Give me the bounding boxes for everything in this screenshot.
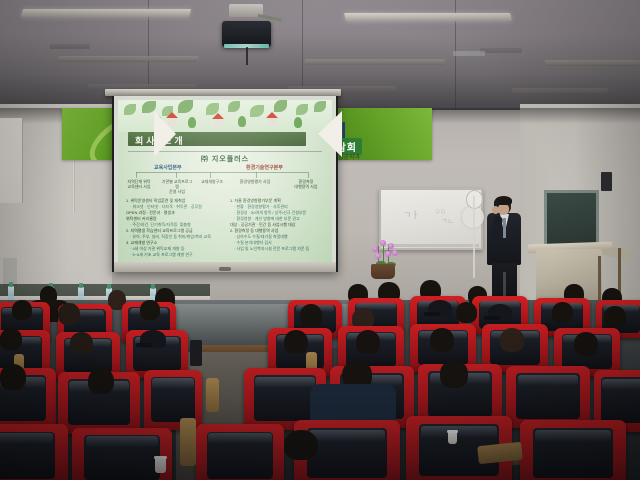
presenter-face <box>498 204 509 215</box>
orchid-bloom <box>375 253 381 259</box>
slide-house-icon <box>214 118 223 127</box>
orchid-bloom <box>392 250 398 256</box>
audience-head <box>500 328 524 352</box>
org-node: 환경영향평가 사업 <box>238 179 272 184</box>
audience-head <box>440 360 468 388</box>
orchid-bloom <box>385 251 391 257</box>
ceiling-light <box>512 88 609 93</box>
presenter-hand <box>492 206 499 214</box>
audience-head <box>356 330 380 354</box>
audience-head <box>140 300 160 320</box>
projection-screen-roller <box>105 89 341 96</box>
water-bottle <box>8 286 14 300</box>
ceiling-panel <box>480 48 522 53</box>
slide-bullets-right: 1. 자율 환경영향평가부문 계획· 현황 · 환경영향평가 · 사후관리· 환… <box>230 198 326 252</box>
projection-screen: 회사 소개 ㈜ 지오플러스 교육사업본부 환경기술연구본부 지역단체 위탁 교육… <box>112 96 338 272</box>
audience-head <box>70 332 93 355</box>
org-connector <box>210 172 211 178</box>
org-connector <box>176 172 177 178</box>
audience-head <box>284 330 308 354</box>
org-head-left: 교육사업본부 <box>154 164 182 171</box>
whiteboard-tray <box>379 244 479 247</box>
org-connector <box>256 172 257 178</box>
org-connector <box>308 172 309 178</box>
org-node: 지역단체 위탁 교육센터 사업 <box>122 179 156 189</box>
audience-head <box>456 302 477 323</box>
ceiling-light <box>57 56 198 62</box>
org-node: 기관별 교육프로그램 운영 사업 <box>160 179 194 194</box>
slide-house-icon <box>268 117 277 126</box>
orchid-bloom <box>372 246 378 252</box>
paper-cup <box>155 458 166 473</box>
wall-speaker <box>601 172 612 191</box>
ceiling-light <box>305 59 446 65</box>
slide-bullet-line: · 5~6세 기초 교육 프로그램 개발 연구 <box>126 252 222 258</box>
ceiling-light <box>21 9 191 17</box>
ceiling-panel <box>50 44 90 49</box>
presenter-leg-gap <box>503 272 506 296</box>
ceiling-light <box>344 13 512 21</box>
org-node: 교재개발구조 <box>198 179 226 184</box>
audience-head <box>574 332 598 356</box>
orchid-bloom <box>380 240 386 246</box>
seat[interactable] <box>506 366 590 428</box>
org-connector <box>136 172 137 178</box>
audience-cap <box>140 330 166 348</box>
audience-head <box>284 430 318 460</box>
presentation-slide: 회사 소개 ㈜ 지오플러스 교육사업본부 환경기술연구본부 지역단체 위탁 교육… <box>118 100 332 262</box>
slide-bullets-left: 1. 위탁운영센터 직업훈련 및 재취업· 워크넷 · 인터넷 · 다자격 · … <box>126 198 222 258</box>
water-bottle <box>78 287 84 301</box>
audience-head <box>58 303 80 325</box>
paper-cup-lip <box>447 430 458 433</box>
org-head-right: 환경기술연구본부 <box>246 164 283 171</box>
ceiling-light <box>545 60 640 66</box>
slide-company-name: ㈜ 지오플러스 <box>118 154 332 164</box>
mic-stand <box>473 196 475 278</box>
flower-pot <box>371 264 395 279</box>
audience-head <box>430 328 454 352</box>
seat[interactable] <box>0 424 68 480</box>
audience-head <box>12 300 32 320</box>
presenter-tie <box>503 218 506 238</box>
banner-chevron-right-icon <box>314 108 432 160</box>
org-node: 환경측정 대행용역 사업 <box>288 179 324 189</box>
auditorium-photo: 200 수회 우수취업 취업박람회 일시 2009. 학교 환경공학과 <box>0 0 640 480</box>
audience-head <box>300 304 322 327</box>
armrest <box>180 418 196 466</box>
slide-bullet-line: · 사업 및 노인복지시설 전문 프로그램 자문 등 <box>230 246 326 252</box>
seat[interactable] <box>196 424 284 480</box>
audience-cap <box>428 300 452 317</box>
slide-header-graphic <box>118 100 332 132</box>
orchid-bloom <box>388 243 394 249</box>
seat[interactable] <box>520 420 626 480</box>
podium-leg <box>598 256 601 306</box>
audience-cap <box>488 304 512 321</box>
projector-cable <box>246 47 248 65</box>
org-connector <box>136 172 308 173</box>
audience-head <box>0 328 22 350</box>
audience-head <box>0 364 26 390</box>
projector-label <box>453 51 485 56</box>
armrest <box>190 340 202 366</box>
left-door-frame <box>0 118 23 203</box>
paper-cup-lip <box>154 456 167 459</box>
paper-cup <box>448 432 457 444</box>
screen-pull-handle[interactable] <box>219 267 231 271</box>
armrest <box>206 378 219 412</box>
audience-head <box>604 306 626 328</box>
audience-head <box>88 368 114 394</box>
audience-head <box>552 302 573 323</box>
